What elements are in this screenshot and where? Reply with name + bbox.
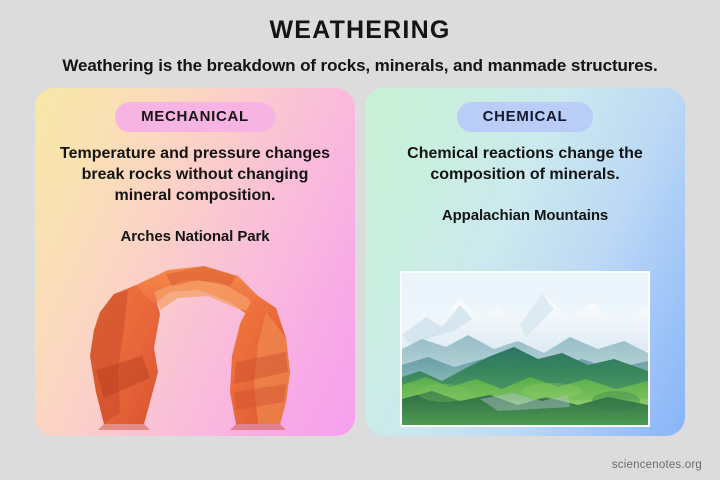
header: WEATHERING Weathering is the breakdown o… [0,0,720,76]
page-subtitle: Weathering is the breakdown of rocks, mi… [0,56,720,76]
panel-row: MECHANICAL Temperature and pressure chan… [0,88,720,438]
footer-credit: sciencenotes.org [612,459,702,471]
badge-chemical: CHEMICAL [457,102,594,132]
panel-mechanical-description: Temperature and pressure changes break r… [56,143,334,206]
panel-chemical-caption: Appalachian Mountains [365,207,685,224]
panel-mechanical[interactable]: MECHANICAL Temperature and pressure chan… [35,88,355,436]
panel-mechanical-caption: Arches National Park [35,228,355,245]
arch-illustration [35,252,355,432]
mountain-watercolor [400,271,650,427]
badge-mechanical: MECHANICAL [115,102,275,132]
page-title: WEATHERING [0,16,720,45]
panel-chemical[interactable]: CHEMICAL Chemical reactions change the c… [365,88,685,436]
panel-chemical-description: Chemical reactions change the compositio… [386,143,664,185]
mountain-icon [402,273,648,425]
arch-icon [80,252,310,432]
